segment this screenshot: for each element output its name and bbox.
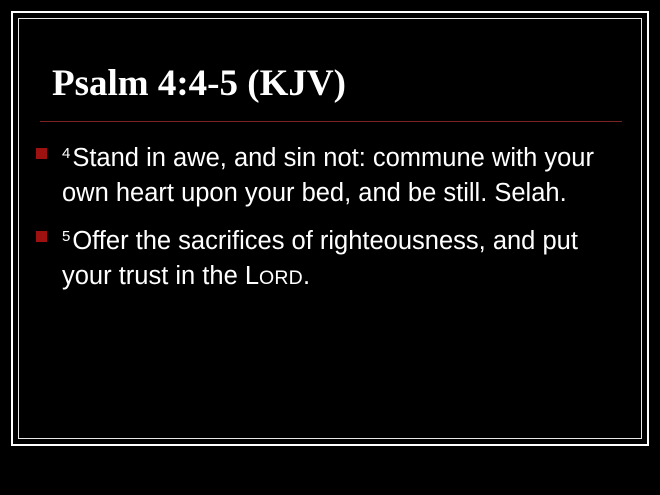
verse-text-leading: Offer the sacrifices of righteousness, a…	[62, 227, 578, 290]
verse-text-trailing: .	[303, 262, 310, 290]
slide-body-bullet-list: 4Stand in awe, and sin not: commune with…	[34, 136, 624, 304]
slide-title: Psalm 4:4-5 (KJV)	[52, 62, 622, 106]
divine-name-smallcaps: ORD	[259, 267, 303, 289]
presentation-slide: Psalm 4:4-5 (KJV) 4Stand in awe, and sin…	[0, 0, 660, 495]
list-item: 4Stand in awe, and sin not: commune with…	[34, 136, 624, 211]
list-item: 5Offer the sacrifices of righteousness, …	[34, 219, 624, 296]
square-bullet-icon	[36, 231, 47, 242]
title-divider-rule	[40, 121, 622, 122]
square-bullet-icon	[36, 148, 47, 159]
verse-number: 5	[62, 228, 72, 245]
verse-number: 4	[62, 145, 72, 162]
verse-text: Stand in awe, and sin not: commune with …	[62, 144, 594, 207]
divine-name-capital: L	[245, 262, 259, 290]
